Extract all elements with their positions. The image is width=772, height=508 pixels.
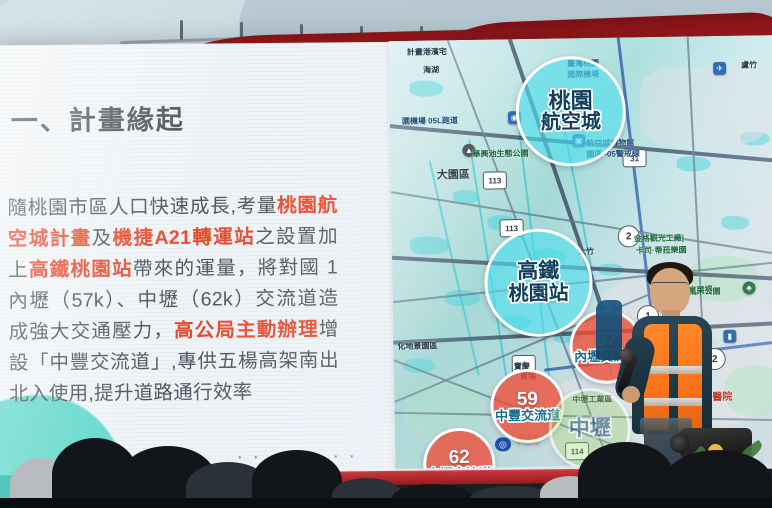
body-run: 及	[92, 227, 113, 249]
page-title: 一、計畫緣起	[11, 98, 185, 139]
callout-line: 航空城	[541, 112, 601, 134]
speaker-head	[650, 268, 690, 315]
map-label: 盧竹	[741, 59, 757, 70]
presentation-scene: 一、計畫緣起 隨桃園市區人口快速成長,考量桃園航空城計畫及機捷A21轉運站之設置…	[0, 0, 772, 508]
road-shield-label: 113	[505, 224, 518, 233]
map-label: 園機場 05L跑道	[402, 115, 458, 127]
callout-line: 桃園站	[508, 283, 568, 305]
slide-body-text: 隨桃園市區人口快速成長,考量桃園航空城計畫及機捷A21轉運站之設置加上高鐵桃園站…	[7, 190, 339, 410]
callout-line: 桃園	[548, 89, 592, 113]
road-shield-label: 2	[626, 231, 632, 242]
body-run-highlight: 高公局主動辦理	[174, 319, 319, 342]
map-label: 化地景園區	[397, 340, 437, 352]
road-shield: 113	[483, 171, 507, 189]
speaker-hand	[622, 386, 640, 403]
microphone-head-icon	[619, 348, 634, 363]
callout-line: 高鐵	[517, 261, 559, 284]
body-run-highlight: 機捷A21轉運站	[112, 226, 255, 249]
poi-airport-icon: ✈	[713, 62, 726, 75]
reflective-stripe	[644, 398, 702, 406]
map-label: 金格觀光工廠|	[634, 232, 684, 244]
interchange-number: 59	[517, 390, 538, 410]
body-run-highlight: 高鐵桃園站	[29, 258, 133, 281]
audience-base	[0, 498, 772, 508]
callout-line: 中壢	[569, 418, 611, 441]
interchange-number: 62	[448, 448, 469, 468]
truss-post	[180, 20, 183, 40]
reflective-stripe	[644, 366, 702, 374]
road-shield-label: 113	[488, 176, 501, 185]
glasses-icon	[651, 282, 689, 291]
map-label: 海湖	[423, 64, 439, 75]
map-label: 計畫港濱宅	[407, 46, 447, 58]
body-run: 隨桃園市區人口快速成長,考量	[7, 195, 277, 219]
map-label: 華興池生態公園	[472, 148, 528, 160]
map-label: 大園區	[437, 166, 470, 183]
map-label: 卡司·蒂菈樂園	[636, 244, 687, 256]
mrt-station-icon: ◎	[495, 437, 511, 451]
